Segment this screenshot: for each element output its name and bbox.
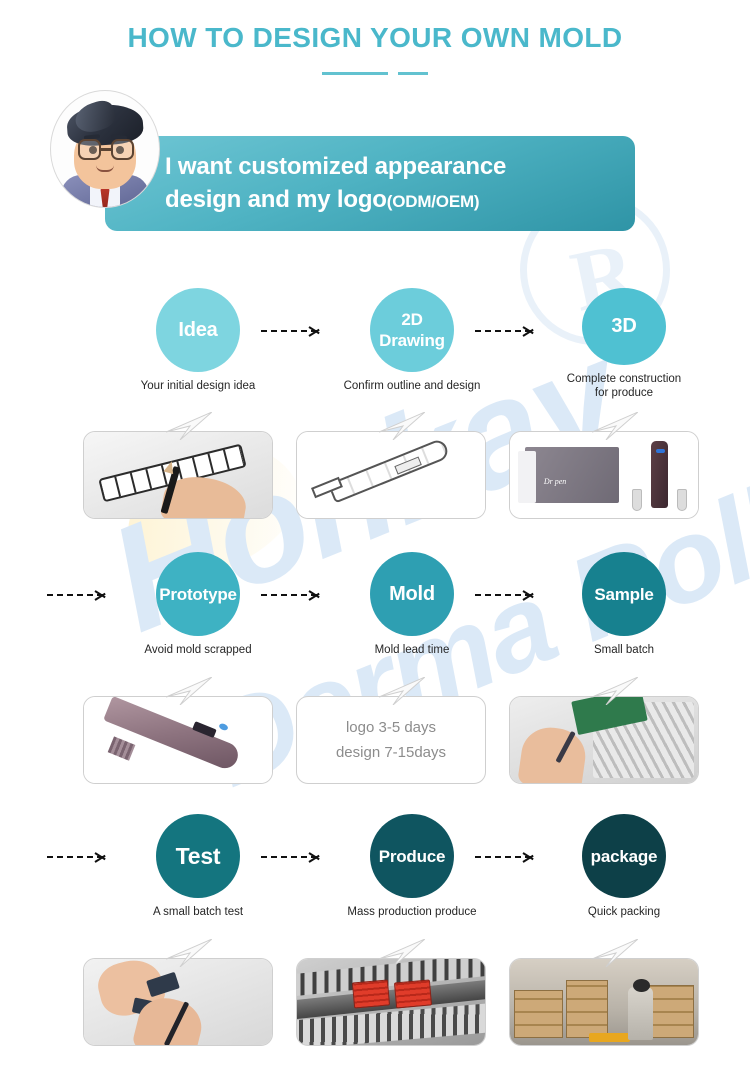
flow-row-1: Idea Your initial design idea 2D Drawing… [0, 288, 750, 400]
prototype-pen-photo [83, 696, 273, 784]
flow-step-produce-circle: Produce [370, 814, 454, 898]
panel-tail-3-3 [592, 939, 638, 967]
flow-step-produce-caption: Mass production produce [322, 905, 502, 919]
panel-tail-3-1 [166, 939, 212, 967]
glasses-bridge [101, 148, 111, 151]
flow-step-prototype[interactable]: Prototype Avoid mold scrapped [103, 552, 293, 664]
bubble-line-2: design and my logo(ODM/OEM) [165, 183, 615, 218]
production-line-photo-image [297, 959, 485, 1045]
intro-speech-bubble: I want customized appearance design and … [105, 136, 635, 231]
flow-step-mold-circle: Mold [370, 552, 454, 636]
glasses-lens-right [111, 139, 134, 160]
panel-tail-1-2 [379, 412, 425, 440]
assembly-photo-image [510, 697, 698, 783]
panel-tail-3-2 [379, 939, 425, 967]
sketch-photo-image [84, 432, 272, 518]
flow-step-package-caption: Quick packing [534, 905, 714, 919]
lead-time-line-1: logo 3-5 days [346, 719, 436, 736]
panel-row-1: Dr pen [0, 413, 750, 523]
flow-step-3d[interactable]: 3D Complete construction for produce [529, 288, 719, 400]
lead-time-line-2: design 7-15days [336, 744, 446, 761]
flow-step-test-caption: A small batch test [108, 905, 288, 919]
flow-step-produce[interactable]: Produce Mass production produce [317, 814, 507, 926]
flow-step-2d-drawing-caption: Confirm outline and design [322, 379, 502, 393]
divider-long [322, 72, 388, 75]
testing-photo-image [84, 959, 272, 1045]
panel-tail-1-3 [592, 412, 638, 440]
flow-step-idea[interactable]: Idea Your initial design idea [103, 288, 293, 400]
avatar [50, 90, 160, 208]
bubble-line-1: I want customized appearance [165, 150, 615, 183]
flow-step-test[interactable]: Test A small batch test [103, 814, 293, 926]
lead-time-note-body: logo 3-5 days design 7-15days [297, 697, 485, 783]
production-line-photo [296, 958, 486, 1046]
flow-step-prototype-caption: Avoid mold scrapped [108, 643, 288, 657]
panel-tail-1-1 [166, 412, 212, 440]
product-box-photo-image: Dr pen [510, 432, 698, 518]
panel-tail-2-1 [166, 677, 212, 705]
bubble-line-2-main: design and my logo [165, 186, 387, 213]
flow-row-3: Test A small batch test Produce Mass pro… [0, 814, 750, 926]
page-title: HOW TO DESIGN YOUR OWN MOLD [0, 22, 750, 54]
flow-step-2d-drawing[interactable]: 2D Drawing Confirm outline and design [317, 288, 507, 400]
line-drawing-photo-image [297, 432, 485, 518]
line-drawing-photo [296, 431, 486, 519]
title-divider [0, 72, 750, 75]
flow-step-idea-caption: Your initial design idea [108, 379, 288, 393]
warehouse-photo [509, 958, 699, 1046]
testing-photo [83, 958, 273, 1046]
panel-row-3 [0, 940, 750, 1050]
flow-step-mold-caption: Mold lead time [322, 643, 502, 657]
flow-step-sample-caption: Small batch [534, 643, 714, 657]
glasses-lens-left [78, 139, 101, 160]
flow-step-package[interactable]: package Quick packing [529, 814, 719, 926]
flow-step-package-circle: package [582, 814, 666, 898]
sketch-photo [83, 431, 273, 519]
flow-step-sample[interactable]: Sample Small batch [529, 552, 719, 664]
flow-step-test-circle: Test [156, 814, 240, 898]
assembly-photo [509, 696, 699, 784]
bubble-suffix: (ODM/OEM) [387, 192, 480, 211]
flow-row-2: Prototype Avoid mold scrapped Mold Mold … [0, 552, 750, 664]
warehouse-photo-image [510, 959, 698, 1045]
flow-step-prototype-circle: Prototype [156, 552, 240, 636]
glasses-icon [78, 139, 134, 161]
panel-row-2: logo 3-5 days design 7-15days [0, 678, 750, 788]
flow-step-2d-drawing-circle: 2D Drawing [370, 288, 454, 372]
flow-step-sample-circle: Sample [582, 552, 666, 636]
prototype-pen-photo-image [84, 697, 272, 783]
infographic-page: Honkay Derma Roller HOW TO DESIGN YOUR O… [0, 0, 750, 1089]
lead-time-note: logo 3-5 days design 7-15days [296, 696, 486, 784]
divider-short [398, 72, 428, 75]
panel-tail-2-3 [592, 677, 638, 705]
flow-step-mold[interactable]: Mold Mold lead time [317, 552, 507, 664]
flow-step-3d-caption: Complete construction for produce [534, 372, 714, 400]
panel-tail-2-2 [379, 677, 425, 705]
flow-step-idea-circle: Idea [156, 288, 240, 372]
product-box-photo: Dr pen [509, 431, 699, 519]
flow-step-3d-circle: 3D [582, 288, 666, 365]
